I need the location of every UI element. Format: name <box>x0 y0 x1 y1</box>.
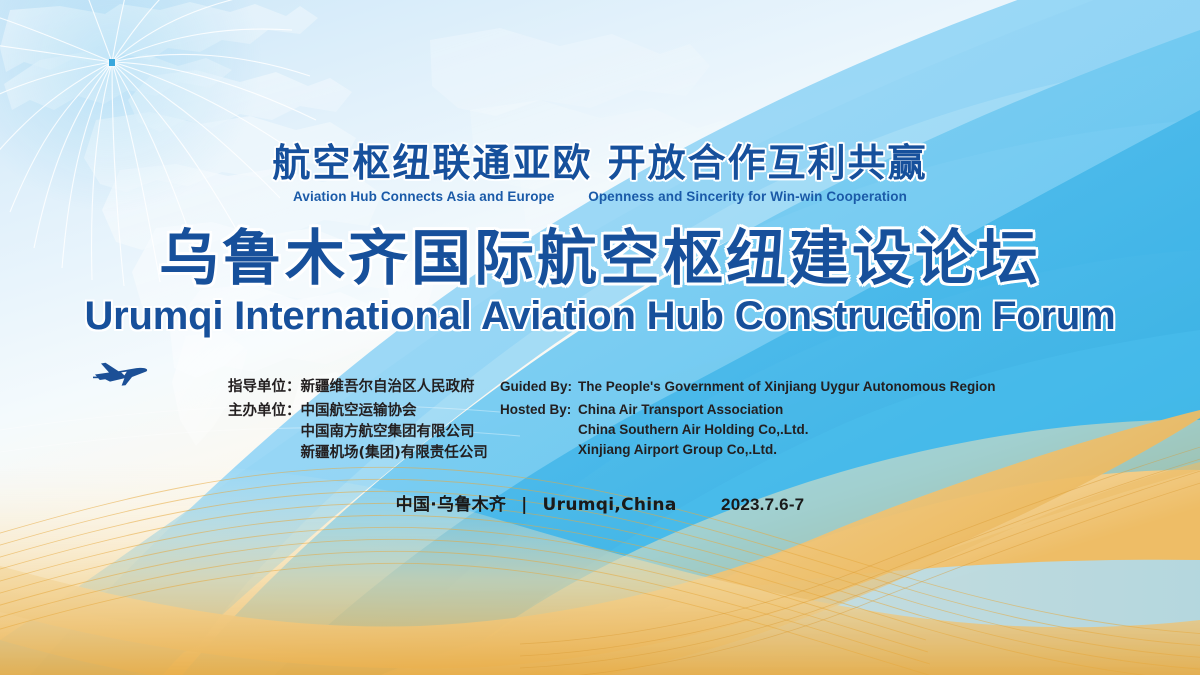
footer-place-en: Urumqi,China <box>543 495 677 515</box>
organizers-english: Guided By: The People's Government of Xi… <box>500 377 1020 463</box>
organizer-row-guided-cn: 指导单位： 新疆维吾尔自治区人民政府 <box>228 377 528 398</box>
organizer-label-guided-en: Guided By: <box>500 377 578 397</box>
organizer-value: 中国航空运输协会 <box>301 401 488 422</box>
tagline-block: 航空枢纽联通亚欧 开放合作互利共赢 Aviation Hub Connects … <box>0 140 1200 204</box>
tagline-english-left: Aviation Hub Connects Asia and Europe <box>293 189 554 204</box>
organizer-value: The People's Government of Xinjiang Uygu… <box>578 377 996 397</box>
footer-divider: | <box>521 495 528 515</box>
organizer-row-guided-en: Guided By: The People's Government of Xi… <box>500 377 1020 397</box>
organizer-values-guided-en: The People's Government of Xinjiang Uygu… <box>578 377 996 397</box>
organizer-values-hosted-en: China Air Transport Association China So… <box>578 400 808 460</box>
organizer-value: Xinjiang Airport Group Co,.Ltd. <box>578 440 808 460</box>
organizer-values-hosted-cn: 中国航空运输协会 中国南方航空集团有限公司 新疆机场(集团)有限责任公司 <box>301 401 488 464</box>
organizer-values-guided-cn: 新疆维吾尔自治区人民政府 <box>301 377 475 398</box>
tagline-english: Aviation Hub Connects Asia and Europe Op… <box>0 189 1200 204</box>
tagline-chinese: 航空枢纽联通亚欧 开放合作互利共赢 <box>0 140 1200 186</box>
organizer-row-hosted-en: Hosted By: China Air Transport Associati… <box>500 400 1020 460</box>
organizer-label-guided-cn: 指导单位： <box>228 377 301 398</box>
tagline-english-right: Openness and Sincerity for Win-win Coope… <box>588 189 907 204</box>
organizer-value: 中国南方航空集团有限公司 <box>301 422 488 443</box>
conference-banner: 航空枢纽联通亚欧 开放合作互利共赢 Aviation Hub Connects … <box>0 0 1200 675</box>
footer-block: 中国·乌鲁木齐 | Urumqi,China 2023.7.6-7 <box>0 490 1200 515</box>
organizer-value: China Air Transport Association <box>578 400 808 420</box>
title-block: 乌鲁木齐国际航空枢纽建设论坛 Urumqi International Avia… <box>0 224 1200 340</box>
airplane-icon <box>88 352 150 388</box>
banner-content: 航空枢纽联通亚欧 开放合作互利共赢 Aviation Hub Connects … <box>0 0 1200 675</box>
organizer-value: China Southern Air Holding Co,.Ltd. <box>578 420 808 440</box>
footer-place-cn: 中国·乌鲁木齐 <box>396 495 507 515</box>
footer-dates: 2023.7.6-7 <box>721 495 804 514</box>
title-chinese: 乌鲁木齐国际航空枢纽建设论坛 <box>0 224 1200 294</box>
organizer-value: 新疆维吾尔自治区人民政府 <box>301 377 475 398</box>
organizer-label-hosted-en: Hosted By: <box>500 400 578 420</box>
organizer-row-hosted-cn: 主办单位： 中国航空运输协会 中国南方航空集团有限公司 新疆机场(集团)有限责任… <box>228 401 528 464</box>
title-english: Urumqi International Aviation Hub Constr… <box>0 292 1200 340</box>
organizer-value: 新疆机场(集团)有限责任公司 <box>301 443 488 464</box>
organizer-label-hosted-cn: 主办单位： <box>228 401 301 422</box>
organizers-chinese: 指导单位： 新疆维吾尔自治区人民政府 主办单位： 中国航空运输协会 中国南方航空… <box>228 377 528 467</box>
